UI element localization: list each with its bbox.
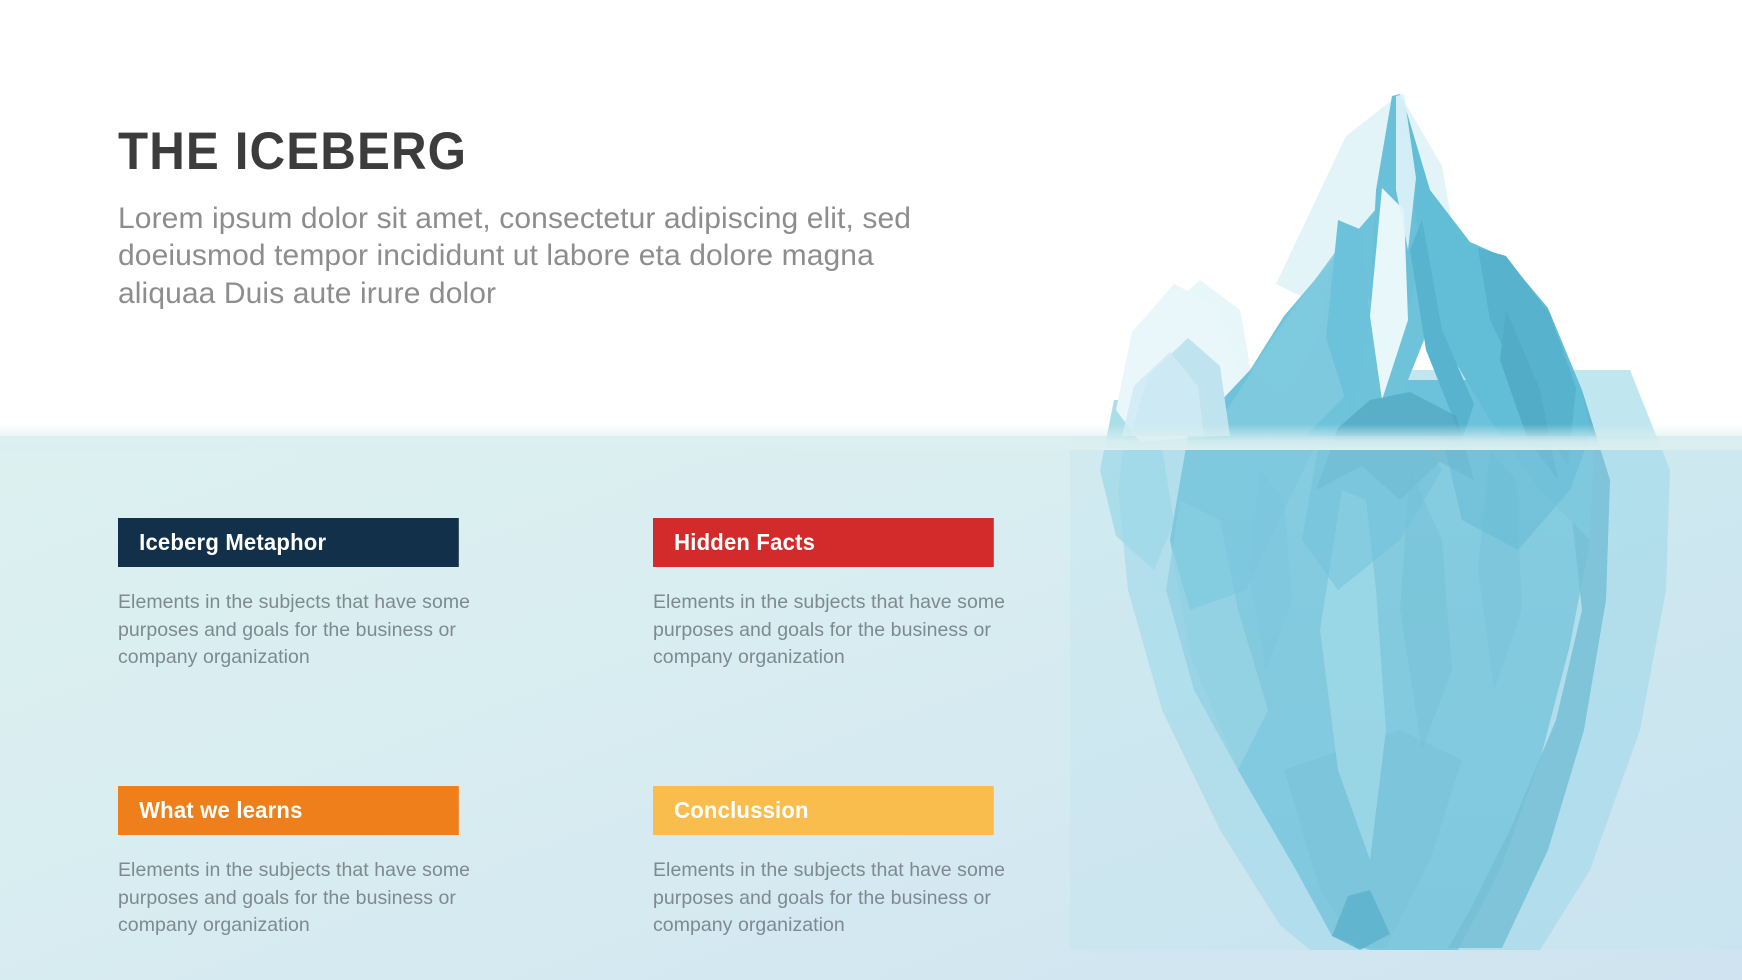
card-row-top: Iceberg Metaphor Elements in the subject…: [118, 518, 1018, 672]
page-subtitle: Lorem ipsum dolor sit amet, consectetur …: [118, 200, 928, 312]
card-conclussion[interactable]: Conclussion Elements in the subjects tha…: [653, 786, 1008, 940]
card-label-iceberg-metaphor[interactable]: Iceberg Metaphor: [118, 518, 459, 567]
card-iceberg-metaphor[interactable]: Iceberg Metaphor Elements in the subject…: [118, 518, 473, 672]
card-body-hidden-facts: Elements in the subjects that have some …: [653, 589, 1048, 672]
card-hidden-facts[interactable]: Hidden Facts Elements in the subjects th…: [653, 518, 1008, 672]
card-label-hidden-facts[interactable]: Hidden Facts: [653, 518, 994, 567]
infographic-canvas: THE ICEBERG Lorem ipsum dolor sit amet, …: [0, 0, 1742, 980]
card-row-bottom: What we learns Elements in the subjects …: [118, 786, 1018, 940]
card-label-conclussion[interactable]: Conclussion: [653, 786, 994, 835]
card-grid: Iceberg Metaphor Elements in the subject…: [118, 518, 1018, 940]
card-body-iceberg-metaphor: Elements in the subjects that have some …: [118, 589, 513, 672]
card-what-we-learns[interactable]: What we learns Elements in the subjects …: [118, 786, 473, 940]
card-body-what-we-learns: Elements in the subjects that have some …: [118, 857, 513, 940]
header-block: THE ICEBERG Lorem ipsum dolor sit amet, …: [118, 124, 948, 312]
card-label-what-we-learns[interactable]: What we learns: [118, 786, 459, 835]
iceberg-illustration: [1070, 70, 1742, 950]
card-body-conclussion: Elements in the subjects that have some …: [653, 857, 1048, 940]
page-title: THE ICEBERG: [118, 124, 890, 180]
